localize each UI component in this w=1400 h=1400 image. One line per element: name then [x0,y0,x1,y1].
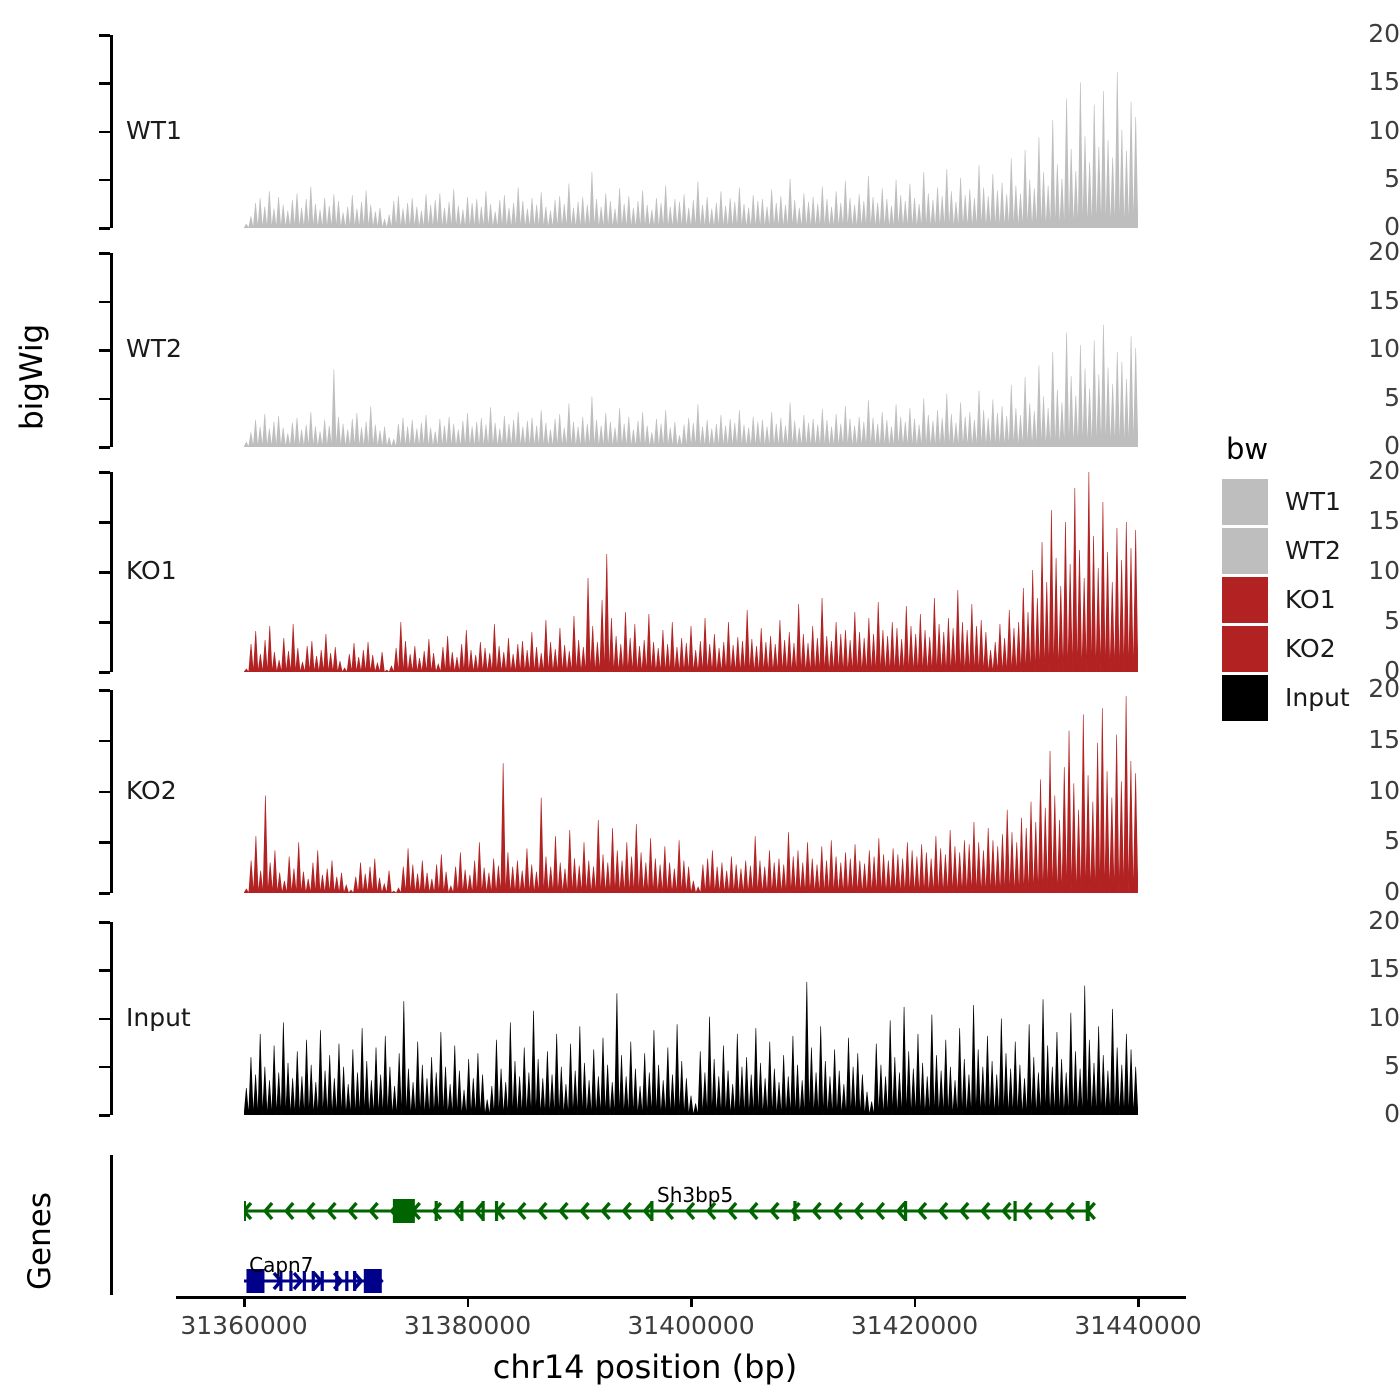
x-axis-tick [690,1296,693,1307]
track-panel-ko2: 05101520KO2 [0,690,1400,893]
y-axis-line [110,472,113,672]
y-axis-tick-label: 15 [1316,288,1400,313]
y-axis-tick [99,521,110,524]
legend: bw WT1WT2KO1KO2Input [1222,432,1397,722]
y-axis-tick-label: 20 [1316,239,1400,264]
track-label-ko1: KO1 [126,556,177,585]
legend-swatch-ko2 [1222,626,1268,672]
x-axis-tick [243,1296,246,1307]
y-axis-tick [99,131,110,134]
y-axis-tick-label: 15 [1316,69,1400,94]
legend-label-wt2: WT2 [1285,536,1341,565]
y-axis-tick [99,921,110,924]
y-axis-tick [99,791,110,794]
legend-item-ko2[interactable]: KO2 [1222,624,1397,673]
track-panel-input: 05101520Input [0,922,1400,1115]
y-axis-tick-label: 5 [1316,385,1400,410]
y-axis-tick [99,841,110,844]
legend-items: WT1WT2KO1KO2Input [1222,477,1397,722]
legend-title: bw [1226,432,1397,466]
legend-item-ko1[interactable]: KO1 [1222,575,1397,624]
y-axis-tick [99,571,110,574]
legend-swatch-ko1 [1222,577,1268,623]
gene-label-sh3bp5: Sh3bp5 [657,1183,733,1207]
x-axis-tick [467,1296,470,1307]
track-plot-area-ko1 [244,472,1138,672]
legend-swatch-input [1222,675,1268,721]
y-axis-line [110,35,113,228]
x-axis-label: chr14 position (bp) [0,1348,1290,1386]
y-axis-tick-label: 20 [1316,21,1400,46]
y-axis-tick-label: 20 [1316,908,1400,933]
legend-label-ko1: KO1 [1285,585,1336,614]
track-label-input: Input [126,1003,191,1032]
legend-item-input[interactable]: Input [1222,673,1397,722]
track-label-ko2: KO2 [126,776,177,805]
x-axis-tick-label: 31360000 [134,1311,354,1340]
y-axis-tick-label: 10 [1316,778,1400,803]
legend-item-wt1[interactable]: WT1 [1222,477,1397,526]
x-axis-tick-label: 31420000 [805,1311,1025,1340]
y-axis-tick [99,1114,110,1117]
genes-axis-line [110,1155,113,1295]
y-axis-tick-label: 10 [1316,336,1400,361]
gene-label-capn7: Capn7 [249,1253,313,1277]
legend-item-wt2[interactable]: WT2 [1222,526,1397,575]
y-axis-tick [99,969,110,972]
y-axis-tick [99,398,110,401]
legend-label-input: Input [1285,683,1350,712]
y-axis-tick [99,252,110,255]
y-axis-tick [99,740,110,743]
y-axis-tick [99,671,110,674]
y-axis-tick-label: 0 [1316,879,1400,904]
y-axis-line [110,922,113,1115]
track-panel-wt1: 05101520WT1 [0,35,1400,228]
y-axis-tick-label: 15 [1316,956,1400,981]
y-axis-tick-label: 10 [1316,118,1400,143]
y-axis-tick [99,621,110,624]
track-label-wt2: WT2 [126,334,182,363]
track-plot-area-input [244,922,1138,1115]
x-axis-tick-label: 31380000 [358,1311,578,1340]
y-axis-tick [99,301,110,304]
y-axis-tick [99,179,110,182]
legend-swatch-wt1 [1222,479,1268,525]
track-plot-area-wt2 [244,253,1138,447]
y-axis-tick [99,1066,110,1069]
x-axis-tick-label: 31440000 [1028,1311,1248,1340]
legend-label-ko2: KO2 [1285,634,1336,663]
track-plot-area-wt1 [244,35,1138,228]
y-axis-line [110,690,113,893]
x-axis-tick-label: 31400000 [581,1311,801,1340]
legend-label-wt1: WT1 [1285,487,1341,516]
y-axis-tick-label: 5 [1316,828,1400,853]
track-panel-wt2: 05101520WT2 [0,253,1400,447]
x-axis-tick [914,1296,917,1307]
y-axis-tick [99,689,110,692]
y-axis-tick [99,349,110,352]
y-axis-tick [99,34,110,37]
y-axis-line [110,253,113,447]
y-axis-tick-label: 15 [1316,727,1400,752]
y-axis-tick-label: 0 [1316,214,1400,239]
genes-panel: Sh3bp5Capn7 [0,1150,1400,1300]
track-panel-ko1: 05101520KO1 [0,472,1400,672]
y-axis-tick [99,471,110,474]
gene-track-capn7[interactable] [244,1268,1138,1294]
y-axis-tick-label: 5 [1316,166,1400,191]
y-axis-tick-label: 10 [1316,1005,1400,1030]
y-axis-tick-label: 5 [1316,1053,1400,1078]
track-plot-area-ko2 [244,690,1138,893]
y-axis-tick [99,892,110,895]
x-axis-tick [1137,1296,1140,1307]
legend-swatch-wt2 [1222,528,1268,574]
y-axis-tick [99,82,110,85]
y-axis-tick [99,227,110,230]
y-axis-tick-label: 0 [1316,1101,1400,1126]
y-axis-tick [99,446,110,449]
y-axis-tick [99,1018,110,1021]
x-axis-line [176,1296,1186,1299]
track-label-wt1: WT1 [126,116,182,145]
genome-browser-figure: bigWig Genes 05101520WT105101520WT205101… [0,0,1400,1400]
